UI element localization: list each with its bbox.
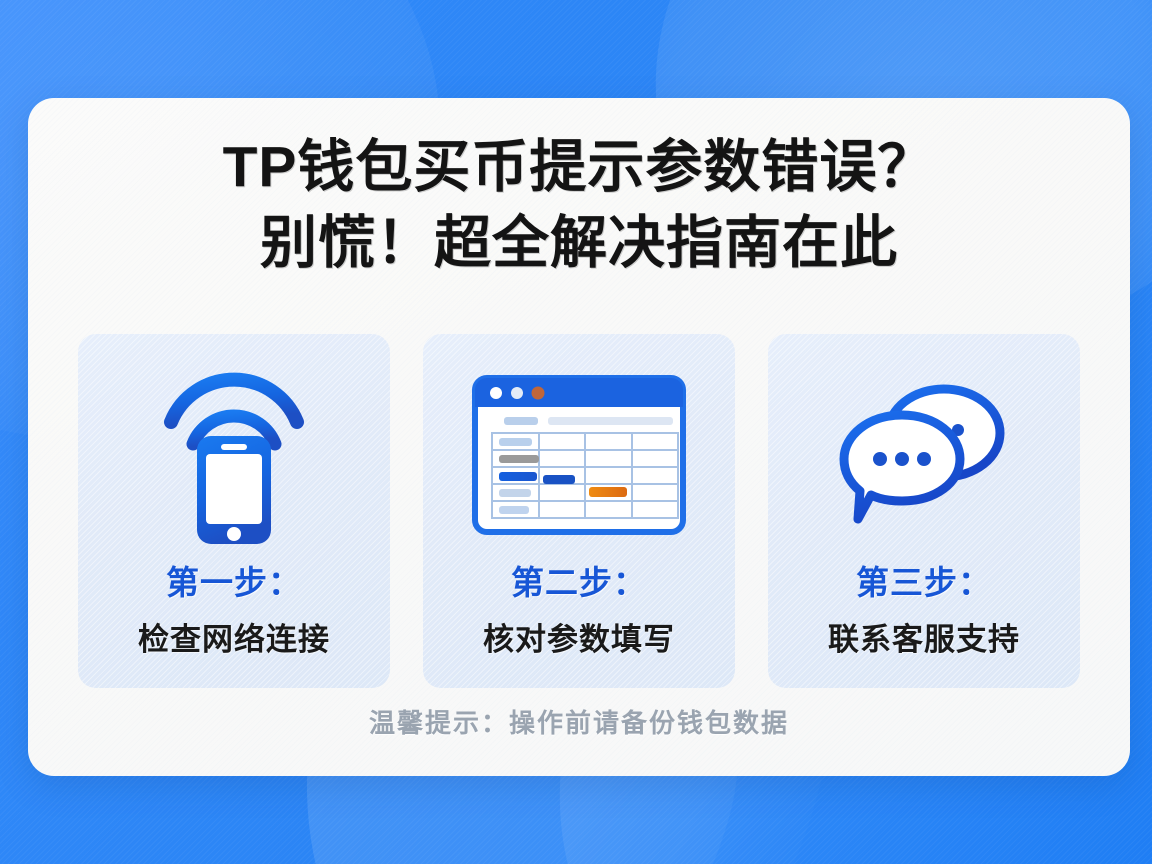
step-card-1-icon-area [78, 360, 390, 550]
step-3-label: 第三步： [856, 556, 992, 604]
footer-note: 温馨提示：操作前请备份钱包数据 [28, 703, 1130, 740]
step-card-2[interactable]: 第二步： 核对参数填写 [423, 334, 735, 688]
step-card-3[interactable]: 第三步： 联系客服支持 [768, 334, 1080, 688]
content-panel: TP钱包买币提示参数错误？ 别慌！超全解决指南在此 [28, 98, 1130, 776]
step-2-label: 第二步： [511, 556, 647, 604]
step-2-description: 核对参数填写 [483, 614, 675, 659]
form-table-window-icon [472, 375, 686, 535]
title-line-2: 别慌！超全解决指南在此 [28, 206, 1130, 282]
phone-wifi-icon [159, 366, 309, 544]
step-card-1[interactable]: 第一步： 检查网络连接 [78, 334, 390, 688]
steps-row: 第一步： 检查网络连接 [78, 334, 1080, 688]
step-3-description: 联系客服支持 [828, 614, 1020, 659]
title-line-1: TP钱包买币提示参数错误？ [28, 130, 1130, 206]
step-card-2-icon-area [423, 360, 735, 550]
step-1-label: 第一步： [166, 556, 302, 604]
step-1-description: 检查网络连接 [138, 614, 330, 659]
page-title: TP钱包买币提示参数错误？ 别慌！超全解决指南在此 [28, 130, 1130, 282]
chat-bubbles-icon [838, 379, 1010, 531]
step-card-3-icon-area [768, 360, 1080, 550]
poster-root: TP钱包买币提示参数错误？ 别慌！超全解决指南在此 [0, 0, 1152, 864]
